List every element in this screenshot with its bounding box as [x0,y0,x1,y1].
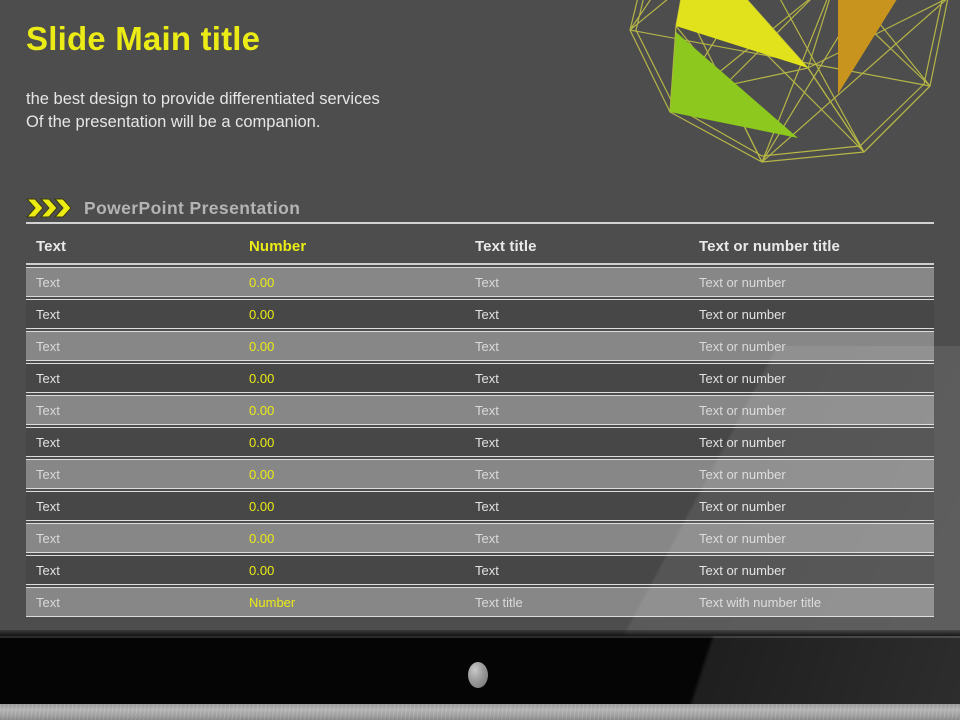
table-header-cell[interactable]: Number [249,238,475,255]
table-cell: Number [249,595,475,610]
table-row[interactable]: Text0.00TextText or number [26,331,934,361]
subtitle-line-2: Of the presentation will be a companion. [26,111,380,134]
table-cell: Text with number title [699,595,934,610]
power-indicator-icon[interactable] [468,662,488,688]
table-header-divider [26,263,934,265]
table-header-cell[interactable]: Text [26,238,249,255]
table-row[interactable]: Text0.00TextText or number [26,299,934,329]
table-cell: Text [26,403,249,418]
table-cell: Text title [475,595,699,610]
table-row[interactable]: Text0.00TextText or number [26,363,934,393]
table-cell: Text or number [699,531,934,546]
table-cell: Text [475,339,699,354]
table-row[interactable]: Text0.00TextText or number [26,395,934,425]
table-cell: Text [26,563,249,578]
table-cell: Text [26,531,249,546]
table-cell: 0.00 [249,499,475,514]
table-header-cell[interactable]: Text title [475,238,699,255]
table-cell: Text or number [699,275,934,290]
table-cell: Text or number [699,371,934,386]
table-cell: Text [475,499,699,514]
table-cell: 0.00 [249,371,475,386]
table-cell: 0.00 [249,339,475,354]
table-cell: Text [475,275,699,290]
section-header: PowerPoint Presentation [26,192,934,224]
table-cell: Text or number [699,467,934,482]
table-row[interactable]: Text0.00TextText or number [26,459,934,489]
table-cell: Text [26,275,249,290]
table-row[interactable]: Text0.00TextText or number [26,523,934,553]
table-cell: Text [475,531,699,546]
wireframe-polygon-sphere-icon [612,0,960,180]
table-cell: Text or number [699,563,934,578]
table-row[interactable]: Text0.00TextText or number [26,491,934,521]
table-cell: Text [26,371,249,386]
table-cell: Text [475,467,699,482]
table-cell: Text or number [699,339,934,354]
table-cell: Text [475,563,699,578]
table-cell: 0.00 [249,467,475,482]
table-row[interactable]: TextNumberText titleText with number tit… [26,587,934,617]
monitor-base-grain [0,704,960,720]
table-cell: Text [26,499,249,514]
table-cell: Text or number [699,307,934,322]
bezel-sheen-overlay [530,636,960,704]
table-cell: Text [26,467,249,482]
table-cell: Text or number [699,435,934,450]
section-header-label: PowerPoint Presentation [84,198,300,219]
table-cell: Text or number [699,499,934,514]
table-cell: Text [26,339,249,354]
table-cell: Text [475,435,699,450]
table-row[interactable]: Text0.00TextText or number [26,427,934,457]
table-header-row: TextNumberText titleText or number title [26,230,934,262]
table-cell: 0.00 [249,275,475,290]
table-body: Text0.00TextText or numberText0.00TextTe… [26,267,934,617]
section-divider [26,222,934,224]
table-cell: Text [475,403,699,418]
triple-chevron-right-icon [26,197,72,219]
table-cell: Text [26,307,249,322]
table-cell: Text or number [699,403,934,418]
table-cell: 0.00 [249,563,475,578]
table-cell: 0.00 [249,435,475,450]
table-cell: 0.00 [249,307,475,322]
data-table: TextNumberText titleText or number title… [26,230,934,617]
slide-subtitle: the best design to provide differentiate… [26,88,380,134]
table-cell: Text [26,595,249,610]
table-cell: Text [475,307,699,322]
table-header-cell[interactable]: Text or number title [699,238,934,255]
subtitle-line-1: the best design to provide differentiate… [26,88,380,111]
table-row[interactable]: Text0.00TextText or number [26,267,934,297]
table-cell: 0.00 [249,403,475,418]
table-row[interactable]: Text0.00TextText or number [26,555,934,585]
table-cell: Text [475,371,699,386]
table-cell: Text [26,435,249,450]
page-title: Slide Main title [26,20,260,58]
presentation-slide: Slide Main title the best design to prov… [0,0,960,636]
table-cell: 0.00 [249,531,475,546]
